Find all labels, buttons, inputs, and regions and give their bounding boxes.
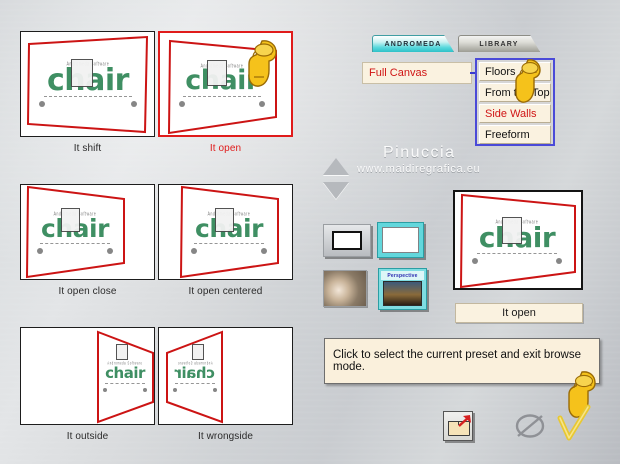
accept-button[interactable] [554, 404, 594, 448]
menu-item-floors[interactable]: Floors [479, 62, 551, 81]
tab-andromeda[interactable]: ANDROMEDA [372, 35, 454, 52]
menu-current-label-text: Full Canvas [369, 67, 427, 79]
preset-thumbnail-it-shift[interactable]: Andromeda Software chair It shift [20, 31, 155, 166]
current-preset-name-text: It open [502, 307, 536, 319]
next-preset-arrow-icon[interactable] [323, 182, 349, 199]
preset-caption: It outside [20, 431, 155, 442]
tab-library[interactable]: LIBRARY [458, 35, 540, 52]
preview-perspective-outline [455, 192, 583, 290]
cancel-button[interactable] [513, 411, 547, 441]
image-preview-mode-button[interactable] [323, 270, 367, 307]
tab-library-label: LIBRARY [479, 41, 518, 48]
small-thumbnail-mode-button[interactable] [323, 224, 371, 257]
thumbnail-frame[interactable]: Andromeda Software chair [20, 327, 155, 425]
menu-current-label[interactable]: Full Canvas [362, 62, 472, 84]
large-thumbnail-mode-button[interactable] [377, 222, 424, 258]
small-thumbnail-icon [332, 231, 362, 250]
hint-text: Click to select the current preset and e… [333, 349, 599, 373]
perspective-outline [159, 328, 293, 425]
menu-dropdown[interactable]: Floors From the Top Side Walls Freeform [475, 58, 555, 146]
preset-preview[interactable]: Andromeda Software chair [453, 190, 583, 290]
menu-item-floors-label: Floors [485, 66, 516, 78]
preset-caption: It open close [20, 286, 155, 297]
current-preset-name: It open [455, 303, 583, 323]
menu-item-freeform-label: Freeform [485, 129, 530, 141]
open-arrow-icon [458, 415, 472, 428]
perspective-preset-mode-button[interactable]: Perspective [378, 268, 427, 310]
preset-caption: It shift [20, 143, 155, 154]
hint-bar: Click to select the current preset and e… [324, 338, 600, 384]
thumbnail-frame[interactable]: Andromeda Software chair [158, 327, 293, 425]
perspective-button-caption: Perspective [381, 271, 424, 280]
preset-thumbnail-it-open[interactable]: Andromeda Software chair [158, 31, 293, 166]
previous-preset-arrow-icon[interactable] [323, 158, 349, 175]
perspective-outline [160, 33, 293, 137]
thumbnail-frame[interactable]: Andromeda Software chair [158, 184, 293, 280]
open-folder-button[interactable] [443, 411, 473, 441]
thumbnail-frame[interactable]: Andromeda Software chair [20, 31, 155, 137]
andromeda-browse-window: Andromeda Software chair It shift [0, 0, 620, 464]
preset-thumbnail-it-wrongside[interactable]: Andromeda Software chair It wrongside [158, 327, 293, 455]
menu-item-side-walls[interactable]: Side Walls [479, 104, 551, 123]
menu-item-from-the-top-label: From the Top [485, 87, 550, 99]
thumbnail-frame[interactable]: Andromeda Software chair [20, 184, 155, 280]
preset-caption: It open [158, 143, 293, 154]
preset-caption: It wrongside [158, 431, 293, 442]
menu-item-freeform[interactable]: Freeform [479, 125, 551, 144]
preset-thumbnail-it-outside[interactable]: Andromeda Software chair It outside [20, 327, 155, 455]
perspective-outline [21, 185, 155, 280]
perspective-outline [21, 32, 155, 137]
watermark-url: www.maidiregrafica.eu [357, 163, 480, 175]
thumbnail-frame-selected[interactable]: Andromeda Software chair [158, 31, 293, 137]
perspective-button-thumb [383, 281, 422, 306]
perspective-outline [159, 185, 293, 280]
menu-item-from-the-top[interactable]: From the Top [479, 83, 551, 102]
menu-item-side-walls-label: Side Walls [485, 108, 537, 120]
tab-andromeda-label: ANDROMEDA [384, 41, 441, 48]
preset-caption: It open centered [158, 286, 293, 297]
watermark-name: Pinuccia [383, 144, 455, 162]
perspective-outline [21, 328, 155, 425]
large-thumbnail-icon [382, 227, 418, 253]
preset-thumbnail-it-open-centered[interactable]: Andromeda Software chair It open centere… [158, 184, 293, 314]
preset-thumbnail-it-open-close[interactable]: Andromeda Software chair It open close [20, 184, 155, 314]
